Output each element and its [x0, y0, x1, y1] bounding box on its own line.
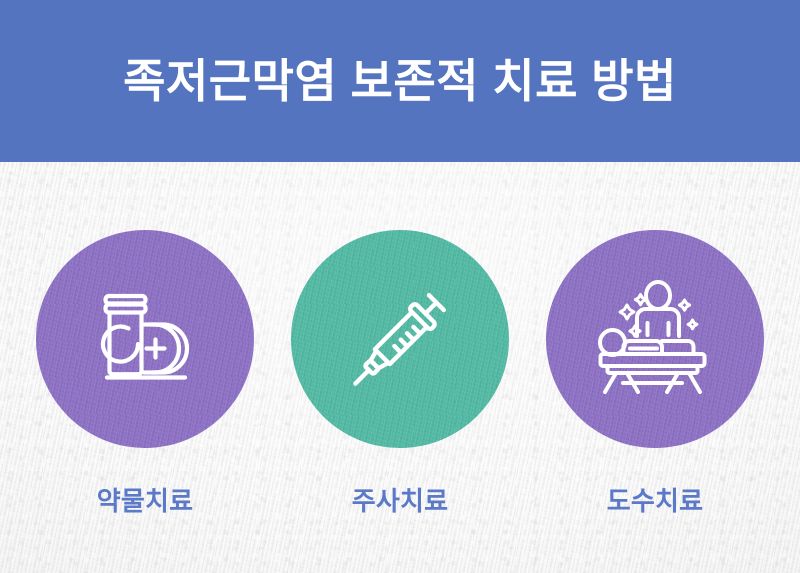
treatment-card-manual-therapy[interactable]: 도수치료: [546, 230, 764, 518]
header-banner: 족저근막염 보존적 치료 방법: [0, 0, 800, 162]
treatment-label-injection: 주사치료: [352, 481, 448, 518]
treatment-card-row: 약물치료: [0, 230, 800, 518]
medicine-bottle-pills-icon: [89, 289, 201, 389]
page-title: 족저근막염 보존적 치료 방법: [113, 56, 687, 107]
syringe-icon: [341, 280, 459, 398]
treatment-label-manual-therapy: 도수치료: [607, 481, 703, 518]
treatment-label-medication: 약물치료: [97, 481, 193, 518]
icon-circle-manual-therapy: [546, 230, 764, 448]
massage-therapy-icon: [593, 280, 717, 398]
infographic-poster: 족저근막염 보존적 치료 방법: [0, 0, 800, 573]
treatment-card-medication[interactable]: 약물치료: [36, 230, 254, 518]
icon-circle-medication: [36, 230, 254, 448]
treatment-card-injection[interactable]: 주사치료: [291, 230, 509, 518]
icon-circle-injection: [291, 230, 509, 448]
